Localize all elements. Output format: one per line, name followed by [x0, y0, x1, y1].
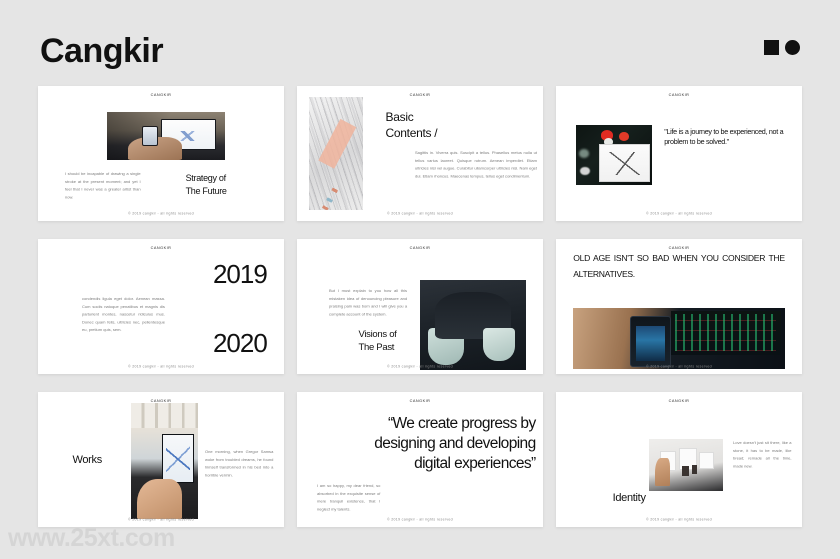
- slide-title: Strategy of The Future: [186, 172, 227, 196]
- person-torso-graphic: [435, 292, 511, 339]
- laptop-screen-graphic: [162, 434, 194, 483]
- slide-title: Works: [72, 454, 101, 466]
- slide-title: Visions of The Past: [359, 328, 397, 355]
- slide-footer-label: © 2019 cangkir - all rights reserved: [38, 519, 284, 522]
- slide-card-years[interactable]: CANGKIR 2019 2020 condendis ligula eget …: [38, 239, 284, 374]
- slide-header-label: CANGKIR: [556, 93, 802, 98]
- slide-header-label: CANGKIR: [38, 93, 284, 98]
- slide-photo-hands-cups: [420, 280, 526, 370]
- page-title: Cangkir: [40, 26, 800, 76]
- green-glow-icon: [579, 149, 590, 158]
- watermark: www.25xt.com: [8, 524, 175, 553]
- slide-header-label: CANGKIR: [556, 399, 802, 404]
- slide-header-label: CANGKIR: [556, 246, 802, 251]
- slide-header-label: CANGKIR: [38, 246, 284, 251]
- slide-quote: "Life is a journey to be experienced, no…: [664, 127, 792, 149]
- slide-photo-desk-laptop: [131, 403, 197, 519]
- window-blinds-graphic: [131, 403, 197, 429]
- slide-grid: CANGKIR I should be incapable of drawing…: [38, 86, 802, 527]
- photo-print-graphic: [682, 466, 689, 476]
- slide-header-label: CANGKIR: [297, 399, 543, 404]
- slide-photo-phone-trading: [573, 308, 785, 369]
- slide-card-works[interactable]: CANGKIR Works One morning, when Gregor S…: [38, 392, 284, 527]
- slide-photo-office-laptop: [107, 112, 225, 161]
- slide-card-identity[interactable]: CANGKIR Love doesn't just sit there, lik…: [556, 392, 802, 527]
- slide-title: Identity: [613, 492, 646, 504]
- slide-body-text: But I must explain to you how all this m…: [329, 289, 407, 320]
- slide-footer-label: © 2019 cangkir - all rights reserved: [297, 366, 543, 369]
- year-second: 2020: [213, 330, 267, 356]
- phone-graphic: [630, 316, 670, 367]
- slide-footer-label: © 2019 cangkir - all rights reserved: [297, 519, 543, 522]
- slide-card-basic-contents[interactable]: CANGKIR Basic Contents / Sagittis in. Vi…: [297, 86, 543, 221]
- phone-graphic: [142, 126, 157, 145]
- slide-body-text: I should be incapable of drawing a singl…: [65, 172, 141, 203]
- paper-sheet-graphic: [699, 452, 714, 469]
- slide-quote: “We create progress by designing and dev…: [356, 414, 536, 474]
- chart-card-graphic: [599, 144, 651, 182]
- slide-body-text: condendis ligula eget dolor. Aenean mass…: [82, 297, 165, 335]
- slide-footer-label: © 2019 cangkir - all rights reserved: [556, 519, 802, 522]
- slide-footer-label: © 2019 cangkir - all rights reserved: [38, 213, 284, 216]
- slide-body-text: One morning, when Gregor Samsa woke from…: [205, 450, 273, 481]
- hand-graphic: [655, 458, 670, 487]
- red-dot-icon: [619, 132, 629, 140]
- slide-header-label: CANGKIR: [297, 246, 543, 251]
- white-dot-icon: [580, 167, 590, 175]
- monitor-graphic: [671, 311, 781, 355]
- slide-footer-label: © 2019 cangkir - all rights reserved: [38, 366, 284, 369]
- slide-footer-label: © 2019 cangkir - all rights reserved: [556, 366, 802, 369]
- slide-card-we-create-progress[interactable]: CANGKIR “We create progress by designing…: [297, 392, 543, 527]
- slide-body-text: Sagittis in. Viverra quis. Suscipit a te…: [415, 151, 537, 182]
- circle-mark-icon: [785, 40, 800, 55]
- square-mark-icon: [764, 40, 779, 55]
- header-marks: [764, 40, 800, 55]
- presentation-preview-page: Cangkir CANGKIR I should be incapable of…: [0, 0, 840, 559]
- header-bar: Cangkir: [40, 26, 800, 76]
- slide-title: Basic Contents /: [386, 109, 438, 141]
- slide-card-strategy-of-the-future[interactable]: CANGKIR I should be incapable of drawing…: [38, 86, 284, 221]
- slide-body-text: Love doesn't just sit there, like a ston…: [733, 441, 792, 472]
- slide-photo-moodboard: [649, 439, 723, 490]
- slide-photo-paper-notes: [309, 97, 363, 210]
- slide-card-visions-of-the-past[interactable]: CANGKIR But I must explain to you how al…: [297, 239, 543, 374]
- photo-print-graphic: [692, 465, 698, 474]
- slide-body-text: I am so happy, my dear friend, so absorb…: [317, 484, 380, 515]
- slide-footer-label: © 2019 cangkir - all rights reserved: [556, 213, 802, 216]
- hand-graphic: [137, 479, 182, 518]
- slide-photo-dark-chart: [576, 125, 652, 184]
- slide-card-old-age[interactable]: CANGKIR OLD AGE ISN'T SO BAD WHEN YOU CO…: [556, 239, 802, 374]
- slide-quote: OLD AGE ISN'T SO BAD WHEN YOU CONSIDER T…: [573, 251, 785, 283]
- year-first: 2019: [213, 261, 267, 287]
- slide-footer-label: © 2019 cangkir - all rights reserved: [297, 213, 543, 216]
- slide-card-life-is-a-journey[interactable]: CANGKIR "Life is a journey to be experie…: [556, 86, 802, 221]
